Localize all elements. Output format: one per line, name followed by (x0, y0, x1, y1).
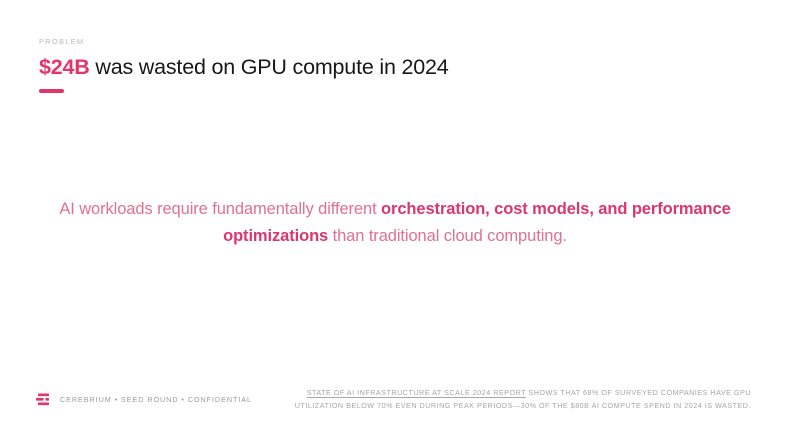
statement-lead: AI workloads require fundamentally diffe… (59, 200, 381, 218)
footer-source-note: STATE OF AI INFRASTRUCTURE AT SCALE 2024… (289, 386, 751, 413)
footer-brand-label: CEREBRIUM • SEED ROUND • CONFIDENTIAL (60, 396, 252, 403)
headline-rest: was wasted on GPU compute in 2024 (90, 55, 449, 79)
headline-amount: $24B (39, 55, 90, 79)
page-title: $24B was wasted on GPU compute in 2024 (39, 55, 449, 79)
footer-brand-group: CEREBRIUM • SEED ROUND • CONFIDENTIAL (36, 386, 252, 406)
statement-trail: than traditional cloud computing. (328, 227, 567, 245)
slide-header: PROBLEM $24B was wasted on GPU compute i… (39, 38, 449, 93)
source-report-link[interactable]: STATE OF AI INFRASTRUCTURE AT SCALE 2024… (307, 388, 526, 397)
statement-text: AI workloads require fundamentally diffe… (50, 196, 740, 249)
slide-footer: CEREBRIUM • SEED ROUND • CONFIDENTIAL ST… (0, 386, 790, 426)
accent-underline-bar (39, 89, 64, 93)
cerebrium-bars-logo-icon (36, 393, 51, 406)
slide-root: PROBLEM $24B was wasted on GPU compute i… (0, 0, 790, 444)
section-eyebrow-label: PROBLEM (39, 38, 449, 46)
